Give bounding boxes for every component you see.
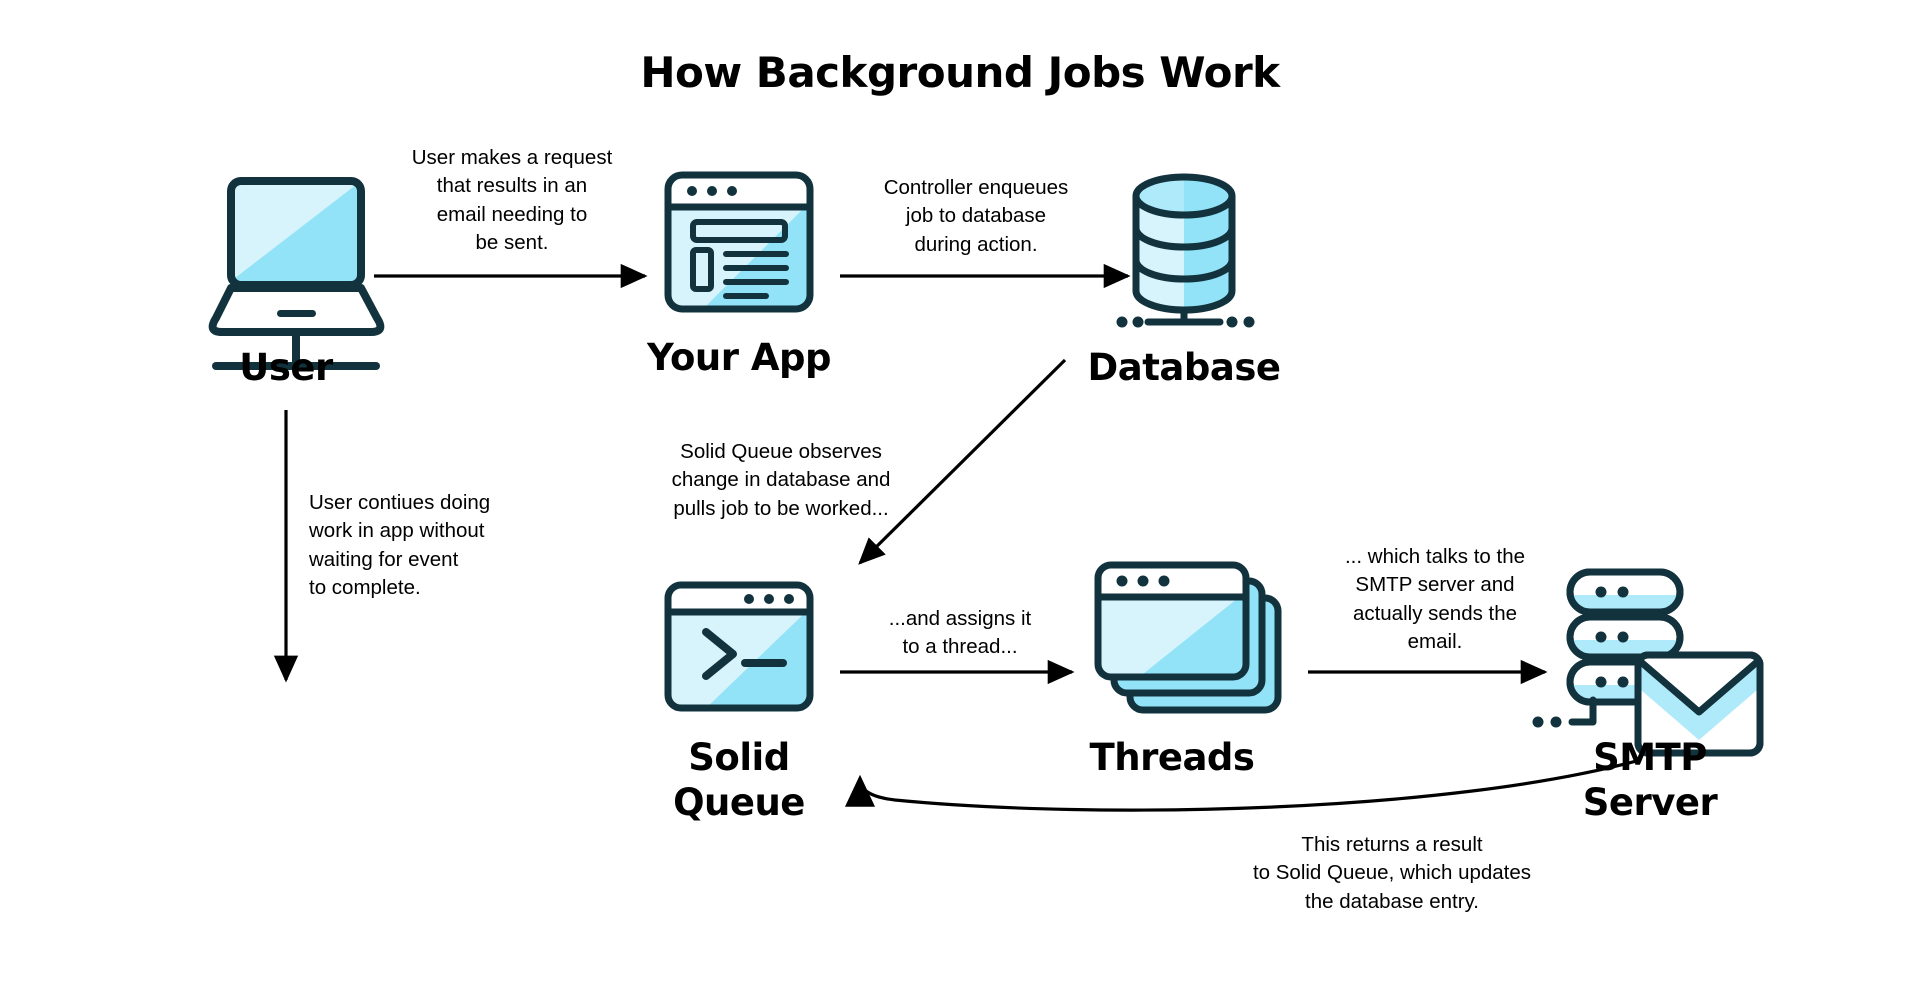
edge-label-line: SMTP server and <box>1318 571 1552 599</box>
edge-label-solid-queue-to-threads: ...and assigns it to a thread... <box>860 605 1060 662</box>
edge-label-line: Solid Queue observes <box>656 438 906 466</box>
laptop-icon <box>213 181 381 366</box>
edge-label-line: ...and assigns it <box>860 605 1060 633</box>
node-label-smtp-server-line2: Server <box>1540 780 1760 825</box>
edge-label-line: Controller enqueues <box>862 174 1090 202</box>
diagram-graphics <box>0 0 1920 1005</box>
edge-label-line: to Solid Queue, which updates <box>1222 859 1562 887</box>
node-label-your-app: Your App <box>629 335 849 380</box>
edge-label-line: to complete. <box>309 574 539 602</box>
edge-label-line: email needing to <box>398 201 626 229</box>
edge-label-user-to-app: User makes a request that results in an … <box>398 144 626 257</box>
edge-label-line: User makes a request <box>398 144 626 172</box>
edge-label-line: actually sends the <box>1318 600 1552 628</box>
browser-window-icon <box>668 175 812 312</box>
edge-label-line: the database entry. <box>1222 888 1562 916</box>
edge-label-line: change in database and <box>656 466 906 494</box>
edge-label-line: work in app without <box>309 517 539 545</box>
edge-label-app-to-database: Controller enqueues job to database duri… <box>862 174 1090 259</box>
node-label-smtp-server: SMTP Server <box>1540 735 1760 825</box>
database-cylinder-icon <box>1117 177 1255 328</box>
terminal-window-icon <box>668 585 812 712</box>
node-label-solid-queue: Solid Queue <box>619 735 859 825</box>
edge-label-threads-to-smtp: ... which talks to the SMTP server and a… <box>1318 543 1552 656</box>
edge-label-line: email. <box>1318 628 1552 656</box>
edge-label-line: waiting for event <box>309 546 539 574</box>
edge-label-database-to-solid-queue: Solid Queue observes change in database … <box>656 438 906 523</box>
edge-label-user-continues: User contiues doing work in app without … <box>309 489 539 602</box>
node-label-database: Database <box>1074 345 1294 390</box>
node-label-threads: Threads <box>1062 735 1282 780</box>
edge-label-line: This returns a result <box>1222 831 1562 859</box>
node-label-user: User <box>176 345 396 390</box>
stacked-windows-icon <box>1098 565 1278 710</box>
edge-label-line: during action. <box>862 231 1090 259</box>
edge-label-line: pulls job to be worked... <box>656 495 906 523</box>
edge-label-line: ... which talks to the <box>1318 543 1552 571</box>
edge-label-line: User contiues doing <box>309 489 539 517</box>
mail-server-icon <box>1533 572 1761 753</box>
edge-label-smtp-to-solid-queue-return: This returns a result to Solid Queue, wh… <box>1222 831 1562 916</box>
edge-label-line: job to database <box>862 202 1090 230</box>
edge-label-line: that results in an <box>398 172 626 200</box>
edge-label-line: to a thread... <box>860 633 1060 661</box>
edge-label-line: be sent. <box>398 229 626 257</box>
node-label-smtp-server-line1: SMTP <box>1540 735 1760 780</box>
diagram-canvas: How Background Jobs Work <box>0 0 1920 1005</box>
